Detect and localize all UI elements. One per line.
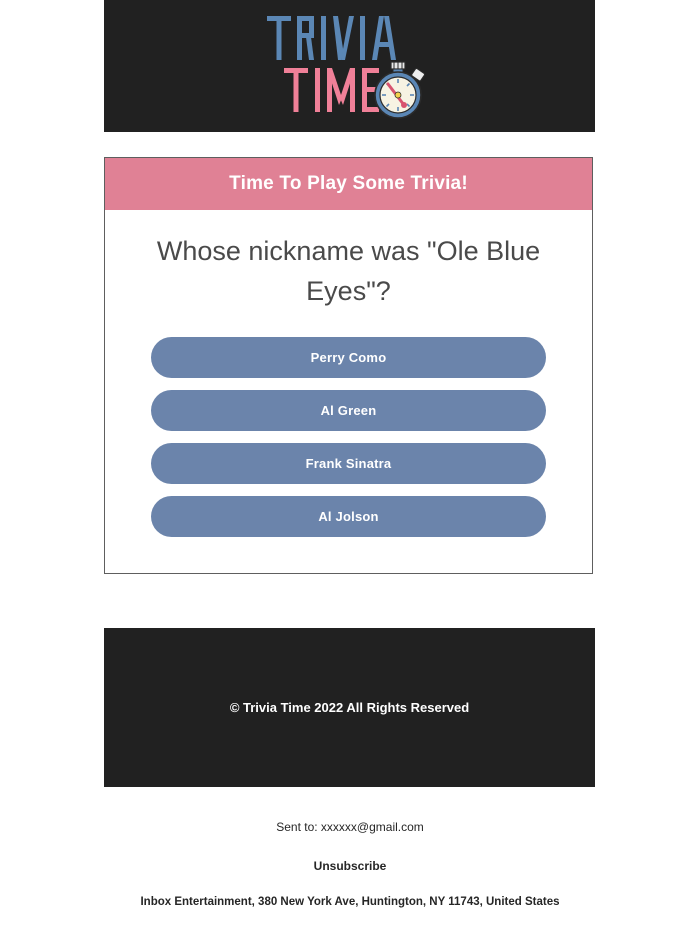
answer-option-4[interactable]: Al Jolson [151, 496, 546, 537]
email-dark-footer: © Trivia Time 2022 All Rights Reserved [104, 628, 595, 787]
email-header-banner [104, 0, 595, 132]
sent-to-text: Sent to: xxxxxx@gmail.com [0, 820, 700, 834]
answer-option-1[interactable]: Perry Como [151, 337, 546, 378]
unsubscribe-link[interactable]: Unsubscribe [314, 859, 387, 873]
mail-client-footer: Sent to: xxxxxx@gmail.com Unsubscribe In… [0, 820, 700, 908]
copyright-text: © Trivia Time 2022 All Rights Reserved [230, 700, 469, 715]
answer-options: Perry Como Al Green Frank Sinatra Al Jol… [133, 337, 564, 537]
sender-address-text: Inbox Entertainment, 380 New York Ave, H… [0, 896, 700, 908]
email-page: Time To Play Some Trivia! Whose nickname… [0, 0, 700, 943]
trivia-card: Time To Play Some Trivia! Whose nickname… [104, 157, 593, 574]
stopwatch-icon [375, 62, 425, 118]
trivia-time-logo [265, 12, 435, 120]
answer-option-3[interactable]: Frank Sinatra [151, 443, 546, 484]
answer-option-2[interactable]: Al Green [151, 390, 546, 431]
trivia-question: Whose nickname was "Ole Blue Eyes"? [141, 232, 556, 311]
card-banner-title: Time To Play Some Trivia! [105, 158, 592, 210]
card-body: Whose nickname was "Ole Blue Eyes"? Perr… [105, 210, 592, 573]
